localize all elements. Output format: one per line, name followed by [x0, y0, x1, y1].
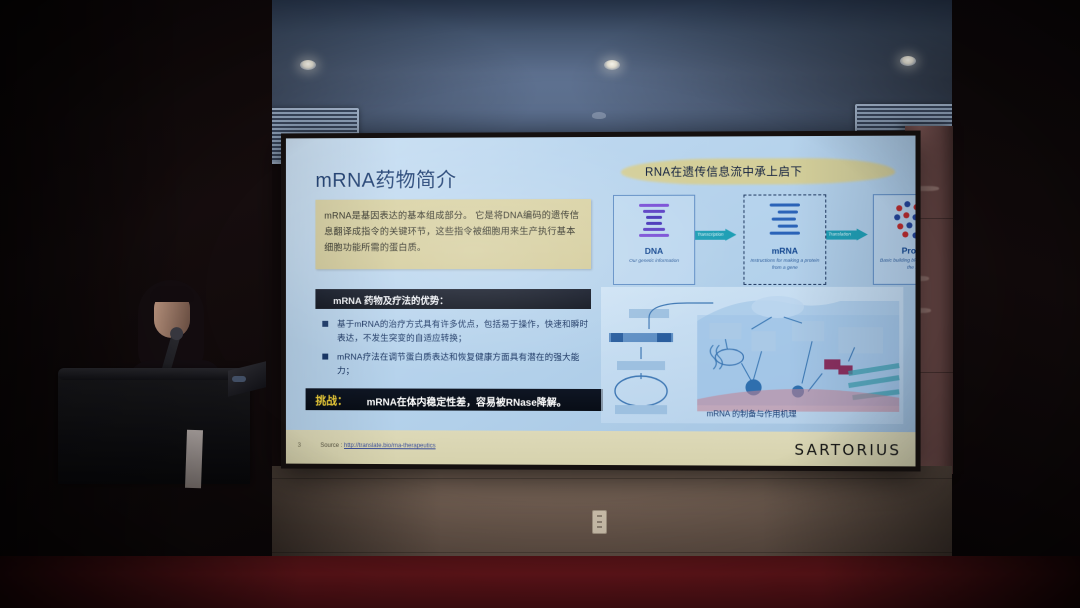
mrna-strand-icon — [770, 203, 800, 241]
conference-room-scene: mRNA药物简介 mRNA是基因表达的基本组成部分。 它是将DNA编码的遗传信息… — [0, 0, 1080, 608]
advantages-bullet-list: 基于mRNA的治疗方式具有许多优点，包括易于操作，快速和瞬时表达，不发生突变的自… — [321, 317, 594, 383]
page-number: 3 — [298, 443, 301, 449]
smoke-detector — [592, 112, 606, 119]
arrow-label-transcription: Transcription — [697, 232, 723, 237]
arrow-transcription: Transcription — [695, 229, 737, 242]
sartorius-logo: SARTORIUS — [794, 441, 901, 460]
slide-title: mRNA药物简介 — [315, 164, 456, 193]
podium-light — [232, 376, 246, 382]
flow-sub-dna: Our genetic information — [618, 258, 690, 265]
source-line: Source : http://translate.bio/rna-therap… — [320, 443, 435, 449]
wall-seam — [272, 478, 952, 479]
flow-label-mrna: mRNA — [744, 246, 825, 256]
flow-box-dna: DNA Our genetic information — [613, 195, 695, 285]
advantages-header-label: mRNA 药物及疗法的优势： — [333, 293, 448, 307]
podium-papers — [185, 430, 203, 489]
intro-textbox: mRNA是基因表达的基本组成部分。 它是将DNA编码的遗传信息翻译成指令的关键环… — [315, 199, 591, 269]
source-prefix: Source : — [320, 443, 344, 449]
challenge-label: 挑战： — [315, 392, 347, 408]
challenge-text: mRNA在体内稳定性差，容易被RNase降解。 — [367, 393, 567, 408]
mechanism-caption: mRNA 的制备与作用机理 — [601, 408, 903, 420]
downlight — [604, 60, 620, 70]
wall-right-dark — [952, 0, 1080, 608]
slide-footer: 3 Source : http://translate.bio/rna-ther… — [286, 430, 916, 467]
flow-sub-protein: Basic building blocks of all cells in th… — [878, 258, 916, 272]
mechanism-diagram: mRNA 的制备与作用机理 — [601, 287, 903, 424]
challenge-bar: 挑战： mRNA在体内稳定性差，容易被RNase降解。 — [306, 388, 603, 411]
central-dogma-diagram: DNA Our genetic information Transcriptio… — [613, 194, 905, 285]
downlight — [900, 56, 916, 66]
protein-cluster-icon — [894, 201, 915, 241]
flow-label-protein: Protein — [874, 245, 916, 255]
presenter-fringe — [150, 286, 194, 302]
projection-screen: mRNA药物简介 mRNA是基因表达的基本组成部分。 它是将DNA编码的遗传信息… — [281, 131, 921, 472]
wall-lower-beige — [272, 466, 952, 558]
arrow-translation: Translation — [826, 228, 869, 241]
wall-switch-plate[interactable] — [592, 510, 607, 534]
flow-box-mrna: mRNA Instructions for making a protein f… — [743, 194, 826, 285]
podium — [58, 372, 250, 484]
advantages-header-bar: mRNA 药物及疗法的优势： — [315, 289, 591, 309]
flow-sub-mrna: Instructions for making a protein from a… — [749, 258, 822, 272]
right-section-header: RNA在遗传信息流中承上启下 — [645, 163, 802, 180]
downlight — [300, 60, 316, 70]
dna-helix-icon — [639, 204, 669, 242]
list-item: mRNA疗法在调节蛋白质表达和恢复健康方面具有潜在的强大能力； — [321, 350, 594, 378]
flow-box-protein: Protein Basic building blocks of all cel… — [873, 194, 916, 285]
flow-label-dna: DNA — [614, 246, 694, 256]
mechanism-artwork — [601, 287, 903, 424]
wall-seam — [272, 552, 952, 553]
source-link[interactable]: http://translate.bio/rna-therapeutics — [344, 443, 436, 449]
arrow-label-translation: Translation — [828, 232, 851, 237]
list-item: 基于mRNA的治疗方式具有许多优点，包括易于操作，快速和瞬时表达，不发生突变的自… — [321, 317, 594, 345]
intro-text: mRNA是基因表达的基本组成部分。 它是将DNA编码的遗传信息翻译成指令的关键环… — [315, 199, 591, 255]
presentation-slide: mRNA药物简介 mRNA是基因表达的基本组成部分。 它是将DNA编码的遗传信息… — [286, 136, 916, 467]
red-carpet-floor — [0, 556, 1080, 608]
